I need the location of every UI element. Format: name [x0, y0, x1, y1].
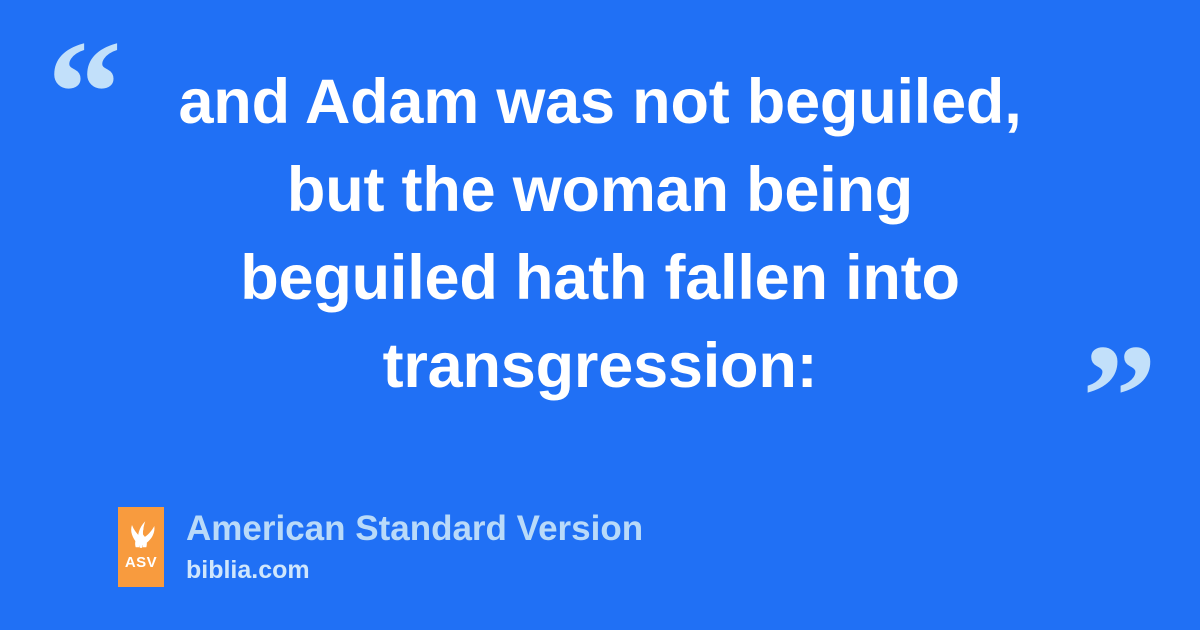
- asv-logo-badge: ASV: [118, 507, 164, 587]
- quote-text-block: and Adam was not beguiled, but the woman…: [60, 58, 1140, 410]
- asv-logo-abbreviation: ASV: [125, 555, 157, 570]
- quote-line: transgression:: [60, 322, 1140, 410]
- site-url: biblia.com: [186, 555, 643, 585]
- quote-line: and Adam was not beguiled,: [60, 58, 1140, 146]
- attribution-text: American Standard Version biblia.com: [186, 507, 643, 585]
- attribution: ASV American Standard Version biblia.com: [118, 507, 643, 587]
- quote-line: but the woman being: [60, 146, 1140, 234]
- closing-quote-icon: ”: [1082, 322, 1157, 472]
- bible-version-name: American Standard Version: [186, 507, 643, 551]
- quote-line: beguiled hath fallen into: [60, 234, 1140, 322]
- bible-verse-card: “ and Adam was not beguiled, but the wom…: [0, 0, 1200, 630]
- sheaf-flame-icon: [124, 517, 158, 551]
